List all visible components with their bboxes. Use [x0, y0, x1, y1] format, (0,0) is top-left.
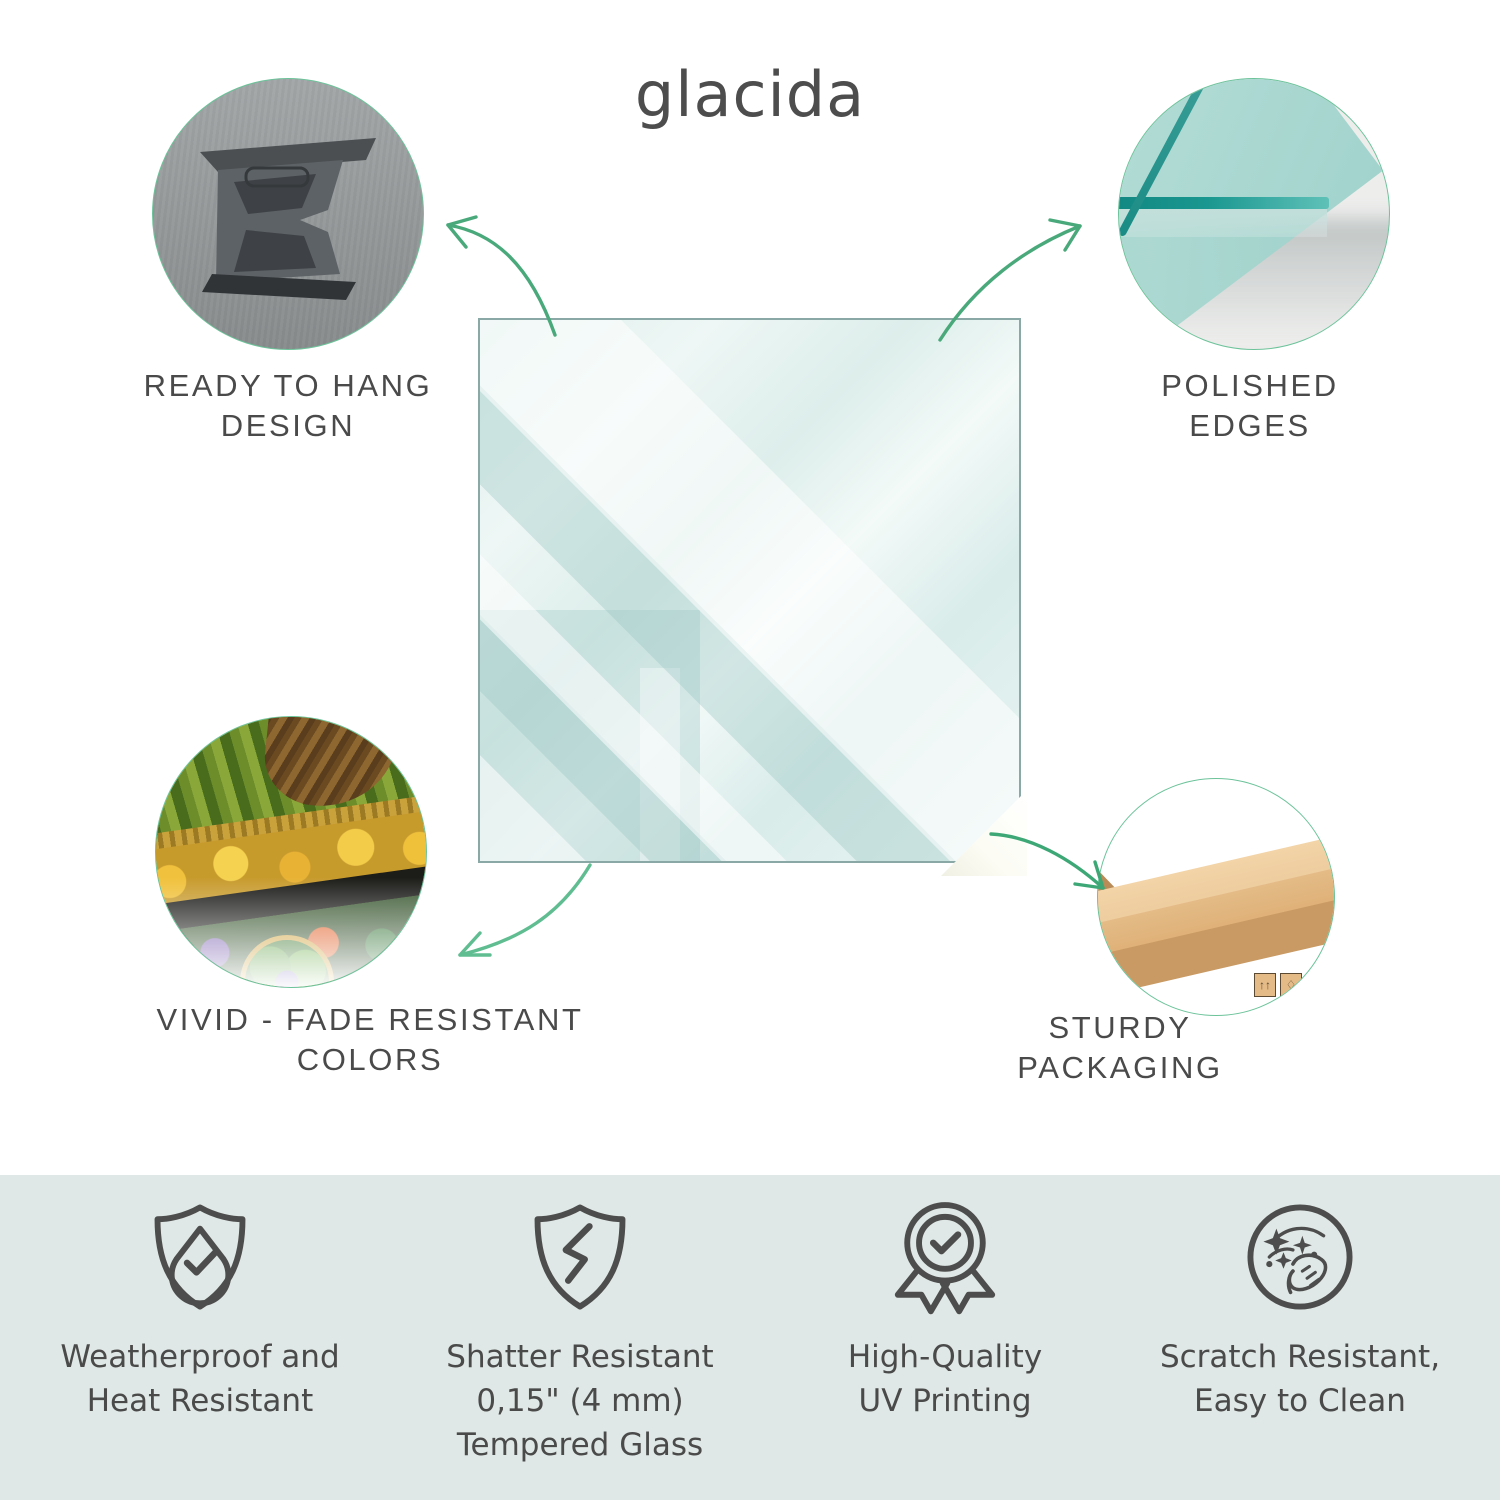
arrow-to-vivid-colors [440, 855, 600, 985]
feature-label-vivid-colors: VIVID - FADE RESISTANT COLORS [40, 1000, 700, 1081]
bottom-feature-uv-printing: High-Quality UV Printing [765, 1197, 1125, 1423]
glass-under-reflection [1118, 209, 1327, 237]
this-side-up-icon: ↑↑ [1254, 973, 1276, 997]
infographic-canvas: glacida READY TO HANG DESIGN POLISHED ED… [0, 0, 1500, 1500]
shipping-symbols: ↑↑ ♢ ☂ [1254, 973, 1328, 997]
award-badge-check-icon [765, 1197, 1125, 1317]
bottom-feature-weatherproof: Weatherproof and Heat Resistant [20, 1197, 380, 1423]
feature-sturdy-packaging: ↑↑ ♢ ☂ STURDY PACKAGING [0, 0, 238, 238]
feature-label-ready-to-hang: READY TO HANG DESIGN [38, 366, 538, 447]
stained-glass-artwork-photo [155, 716, 427, 988]
fragile-glass-icon: ♢ [1280, 973, 1302, 997]
bottom-feature-label-shatter-resistant: Shatter Resistant 0,15" (4 mm) Tempered … [400, 1335, 760, 1467]
bottom-feature-shatter-resistant: Shatter Resistant 0,15" (4 mm) Tempered … [400, 1197, 760, 1467]
sparkle-wiping-hand-icon [1120, 1197, 1480, 1317]
feature-label-polished-edges: POLISHED EDGES [1000, 366, 1500, 447]
polished-edge-highlight [1118, 197, 1329, 209]
shield-water-drop-check-icon [20, 1197, 380, 1317]
feature-label-sturdy-packaging: STURDY PACKAGING [900, 1008, 1340, 1089]
polished-glass-edge-photo [1118, 78, 1390, 350]
bottom-fade [156, 877, 426, 987]
keep-dry-icon: ☂ [1306, 973, 1328, 997]
bottom-feature-label-weatherproof: Weatherproof and Heat Resistant [20, 1335, 380, 1423]
tempered-glass-panel [478, 318, 1021, 863]
cardboard-box-photo: ↑↑ ♢ ☂ [1097, 778, 1335, 1016]
bottom-feature-scratch-resistant: Scratch Resistant, Easy to Clean [1120, 1197, 1480, 1423]
bottom-feature-label-scratch-resistant: Scratch Resistant, Easy to Clean [1120, 1335, 1480, 1423]
bottom-feature-label-uv-printing: High-Quality UV Printing [765, 1335, 1125, 1423]
bottom-feature-bar: Weatherproof and Heat Resistant Shatter … [0, 1175, 1500, 1500]
stained-glass-composition [156, 717, 426, 987]
shield-shatter-bolt-icon [400, 1197, 760, 1317]
